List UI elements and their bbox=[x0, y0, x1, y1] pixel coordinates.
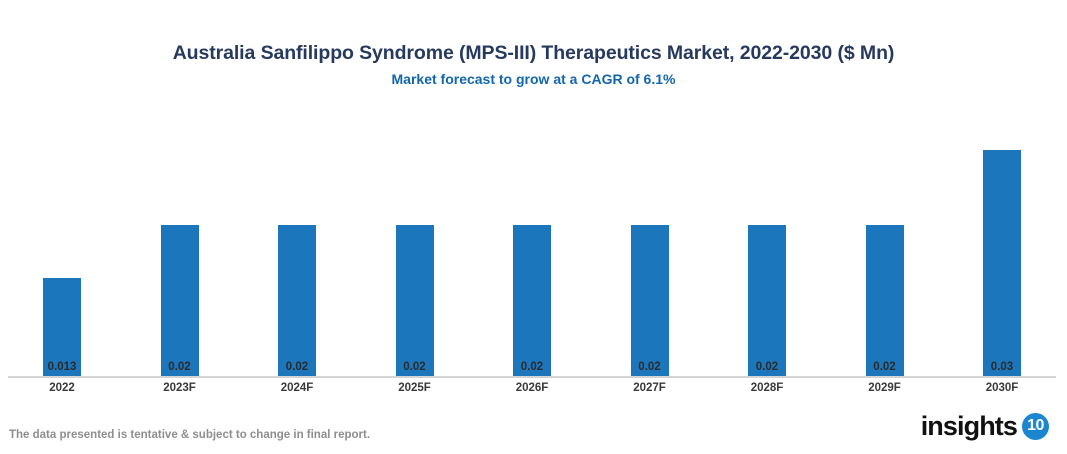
bar-value-label: 0.02 bbox=[756, 361, 778, 373]
bar[interactable]: 0.02 bbox=[631, 225, 669, 376]
x-tick-label: 2028F bbox=[751, 382, 784, 394]
bar[interactable]: 0.02 bbox=[396, 225, 434, 376]
x-axis-line bbox=[8, 376, 1056, 378]
x-tick-label: 2022 bbox=[49, 382, 75, 394]
x-tick-label: 2026F bbox=[516, 382, 549, 394]
bar[interactable]: 0.03 bbox=[983, 150, 1021, 376]
x-tick-label: 2029F bbox=[868, 382, 901, 394]
bar-value-label: 0.03 bbox=[991, 361, 1013, 373]
disclaimer-text: The data presented is tentative & subjec… bbox=[9, 429, 370, 441]
bar[interactable]: 0.02 bbox=[513, 225, 551, 376]
bar[interactable]: 0.02 bbox=[161, 225, 199, 376]
bar-value-label: 0.02 bbox=[403, 361, 425, 373]
bar-value-label: 0.02 bbox=[638, 361, 660, 373]
bar-value-label: 0.02 bbox=[168, 361, 190, 373]
bar-value-label: 0.013 bbox=[48, 361, 77, 373]
bar[interactable]: 0.02 bbox=[278, 225, 316, 376]
chart-canvas: Australia Sanfilippo Syndrome (MPS-III) … bbox=[0, 0, 1067, 454]
plot-area: 0.0130.020.020.020.020.020.020.020.03 20… bbox=[0, 0, 1067, 454]
bar-value-label: 0.02 bbox=[521, 361, 543, 373]
bar[interactable]: 0.02 bbox=[866, 225, 904, 376]
bar-value-label: 0.02 bbox=[286, 361, 308, 373]
logo-badge-10: 10 bbox=[1022, 413, 1049, 440]
x-tick-label: 2027F bbox=[633, 382, 666, 394]
x-tick-label: 2023F bbox=[163, 382, 196, 394]
logo-wordmark: insights bbox=[921, 413, 1017, 440]
x-tick-label: 2025F bbox=[398, 382, 431, 394]
x-tick-label: 2024F bbox=[281, 382, 314, 394]
x-tick-label: 2030F bbox=[986, 382, 1019, 394]
bar-value-label: 0.02 bbox=[873, 361, 895, 373]
bar[interactable]: 0.013 bbox=[43, 278, 81, 376]
insights10-logo: insights 10 bbox=[921, 409, 1049, 443]
bar[interactable]: 0.02 bbox=[748, 225, 786, 376]
